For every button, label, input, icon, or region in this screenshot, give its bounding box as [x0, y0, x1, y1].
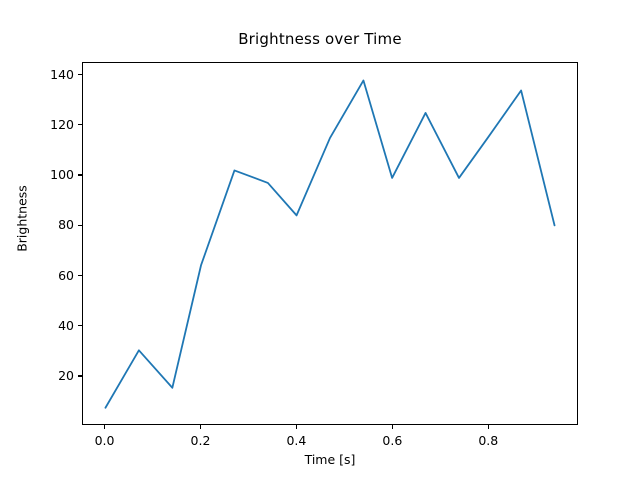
plot-area [82, 62, 578, 425]
y-tick-mark [78, 174, 82, 175]
brightness-line-series [105, 80, 554, 407]
x-tick-label: 0.2 [170, 433, 230, 448]
x-tick-label: 0.8 [458, 433, 518, 448]
x-tick-mark [104, 425, 105, 429]
chart-title: Brightness over Time [0, 30, 640, 48]
y-tick-mark [78, 124, 82, 125]
y-tick-label: 80 [34, 217, 74, 232]
y-tick-label: 20 [34, 368, 74, 383]
x-tick-label: 0.4 [266, 433, 326, 448]
y-tick-mark [78, 325, 82, 326]
y-tick-mark [78, 275, 82, 276]
matplotlib-figure: Brightness over Time 20406080100120140 0… [0, 0, 640, 480]
x-tick-mark [392, 425, 393, 429]
y-tick-label: 40 [34, 318, 74, 333]
y-tick-label: 60 [34, 268, 74, 283]
x-tick-label: 0.0 [75, 433, 135, 448]
y-axis-label: Brightness [15, 159, 30, 279]
y-tick-mark [78, 225, 82, 226]
x-axis-label: Time [s] [82, 452, 578, 467]
x-tick-mark [296, 425, 297, 429]
y-tick-mark [78, 74, 82, 75]
line-chart-svg [83, 63, 577, 424]
x-tick-label: 0.6 [362, 433, 422, 448]
x-tick-mark [488, 425, 489, 429]
y-tick-label: 120 [34, 117, 74, 132]
y-tick-label: 100 [34, 167, 74, 182]
y-tick-label: 140 [34, 67, 74, 82]
y-tick-mark [78, 375, 82, 376]
x-tick-mark [200, 425, 201, 429]
